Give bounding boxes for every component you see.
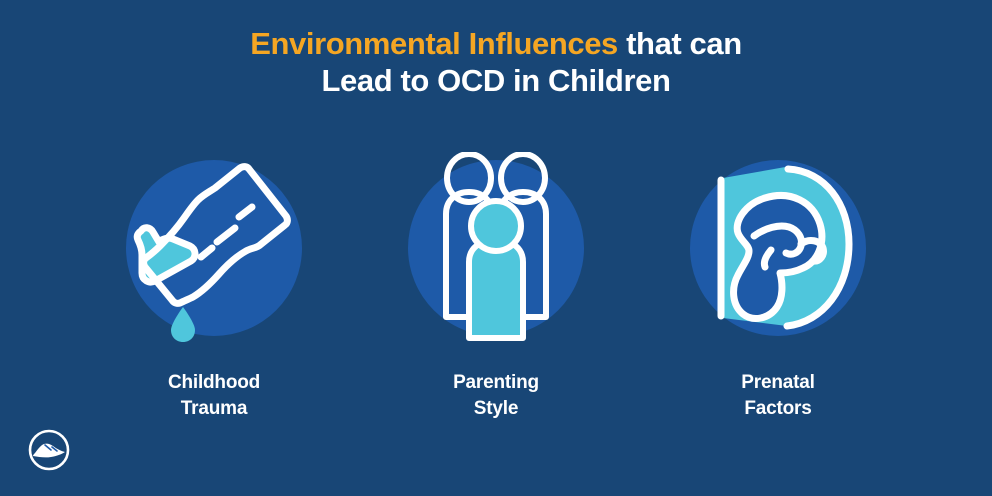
title-accent-text: Environmental Influences	[250, 26, 618, 61]
title-line-1: Environmental Influences that can	[0, 26, 992, 63]
fetus-in-womb-icon	[683, 152, 873, 344]
card-label-childhood-trauma: Childhood Trauma	[168, 370, 260, 421]
title-line-2: Lead to OCD in Children	[0, 63, 992, 100]
family-group-icon	[401, 152, 591, 344]
card-childhood-trauma[interactable]: Childhood Trauma	[73, 152, 355, 421]
card-prenatal-factors[interactable]: Prenatal Factors	[637, 152, 919, 421]
infographic-canvas: Environmental Influences that can Lead t…	[0, 0, 992, 496]
page-title: Environmental Influences that can Lead t…	[0, 26, 992, 99]
card-label-parenting-style: Parenting Style	[453, 370, 539, 421]
card-parenting-style[interactable]: Parenting Style	[355, 152, 637, 421]
baby-bottle-icon	[119, 152, 309, 344]
mountain-in-circle-logo[interactable]	[25, 426, 73, 474]
card-row: Childhood Trauma	[0, 152, 992, 421]
card-label-prenatal-factors: Prenatal Factors	[741, 370, 814, 421]
title-line-1-rest: that can	[618, 26, 742, 61]
